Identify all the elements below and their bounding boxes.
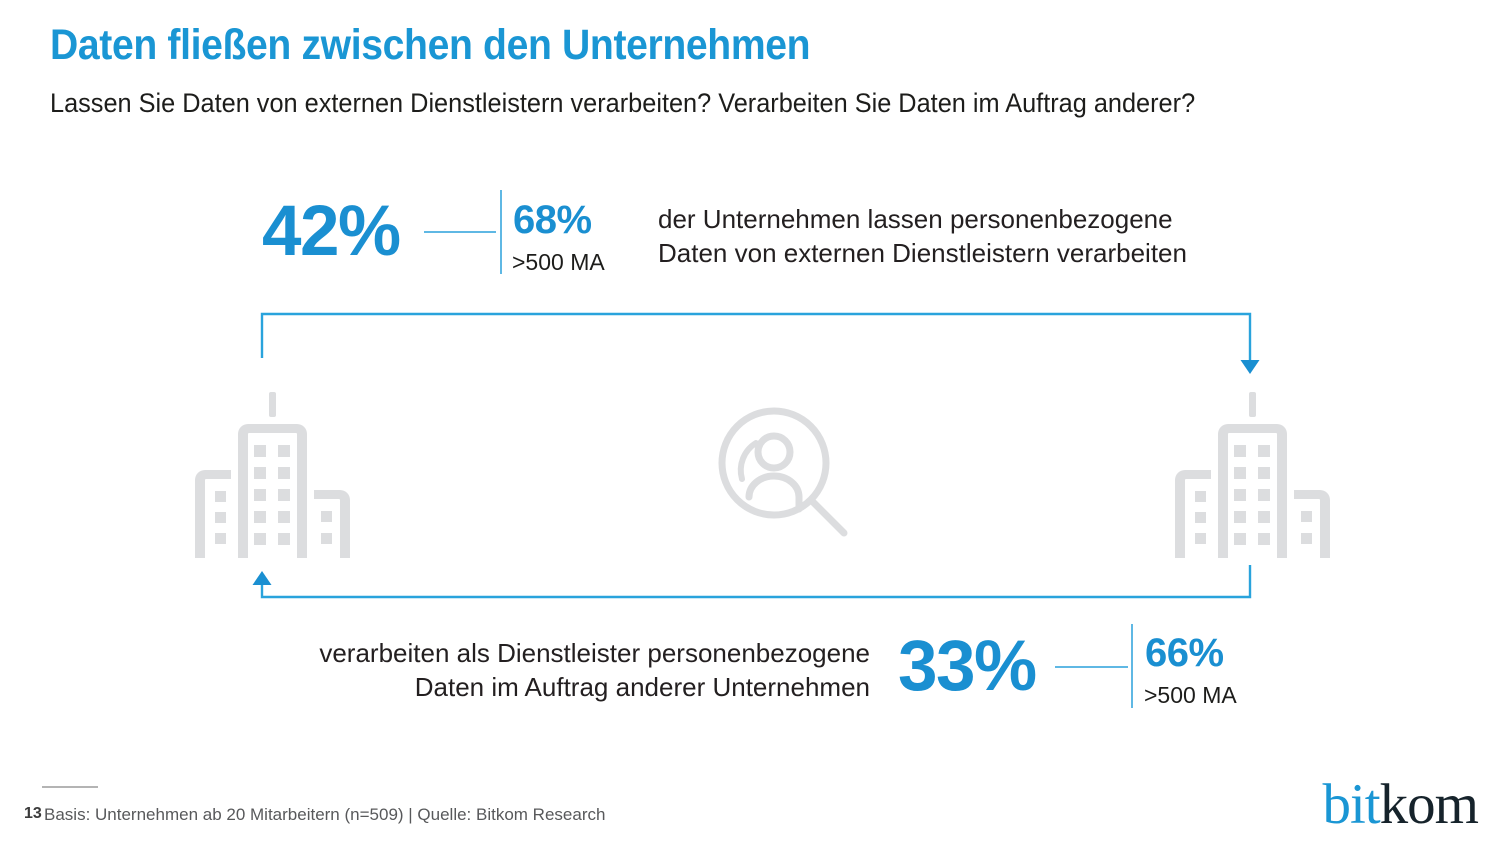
- footer-divider: [42, 786, 98, 788]
- flow-arrow-bottom: [250, 565, 1262, 613]
- logo-part-kom: kom: [1380, 773, 1478, 836]
- bottom-description: verarbeiten als Dienstleister personenbe…: [262, 636, 870, 705]
- top-sub-note: >500 MA: [512, 251, 605, 274]
- bottom-connector-line: [1055, 666, 1128, 668]
- bottom-sub-note: >500 MA: [1144, 684, 1237, 707]
- page-title: Daten fließen zwischen den Unternehmen: [50, 23, 1142, 68]
- bottom-description-line-2: Daten im Auftrag anderer Unternehmen: [262, 670, 870, 704]
- bottom-headline-percentage: 33%: [898, 631, 1036, 702]
- top-description-line-1: der Unternehmen lassen personenbezogene: [658, 202, 1278, 236]
- top-connector-line: [424, 231, 496, 233]
- top-description-line-2: Daten von externen Dienstleistern verarb…: [658, 236, 1278, 270]
- bottom-description-line-1: verarbeiten als Dienstleister personenbe…: [262, 636, 870, 670]
- top-divider-line: [500, 190, 502, 274]
- flow-arrow-top-svg: [250, 312, 1262, 382]
- arrowhead-down-icon: [1241, 360, 1260, 374]
- logo-part-bit: bit: [1322, 773, 1379, 836]
- person-search-icon: [716, 405, 866, 547]
- footer-source-note: Basis: Unternehmen ab 20 Mitarbeitern (n…: [44, 806, 605, 823]
- bottom-divider-line: [1131, 624, 1133, 708]
- bitkom-logo: bitkom: [1322, 776, 1478, 833]
- top-sub-percentage: 68%: [513, 200, 592, 240]
- slide-canvas: Daten fließen zwischen den Unternehmen L…: [0, 0, 1500, 841]
- top-headline-percentage: 42%: [262, 196, 400, 267]
- page-subtitle: Lassen Sie Daten von externen Dienstleis…: [50, 88, 1463, 120]
- flow-arrow-top: [250, 312, 1262, 382]
- building-left-icon: [186, 392, 362, 558]
- arrowhead-up-icon: [253, 571, 272, 585]
- bottom-sub-percentage: 66%: [1145, 633, 1224, 673]
- building-right-icon: [1166, 392, 1342, 558]
- flow-arrow-bottom-svg: [250, 565, 1262, 613]
- top-description: der Unternehmen lassen personenbezogene …: [658, 202, 1278, 271]
- page-number: 13: [24, 806, 42, 822]
